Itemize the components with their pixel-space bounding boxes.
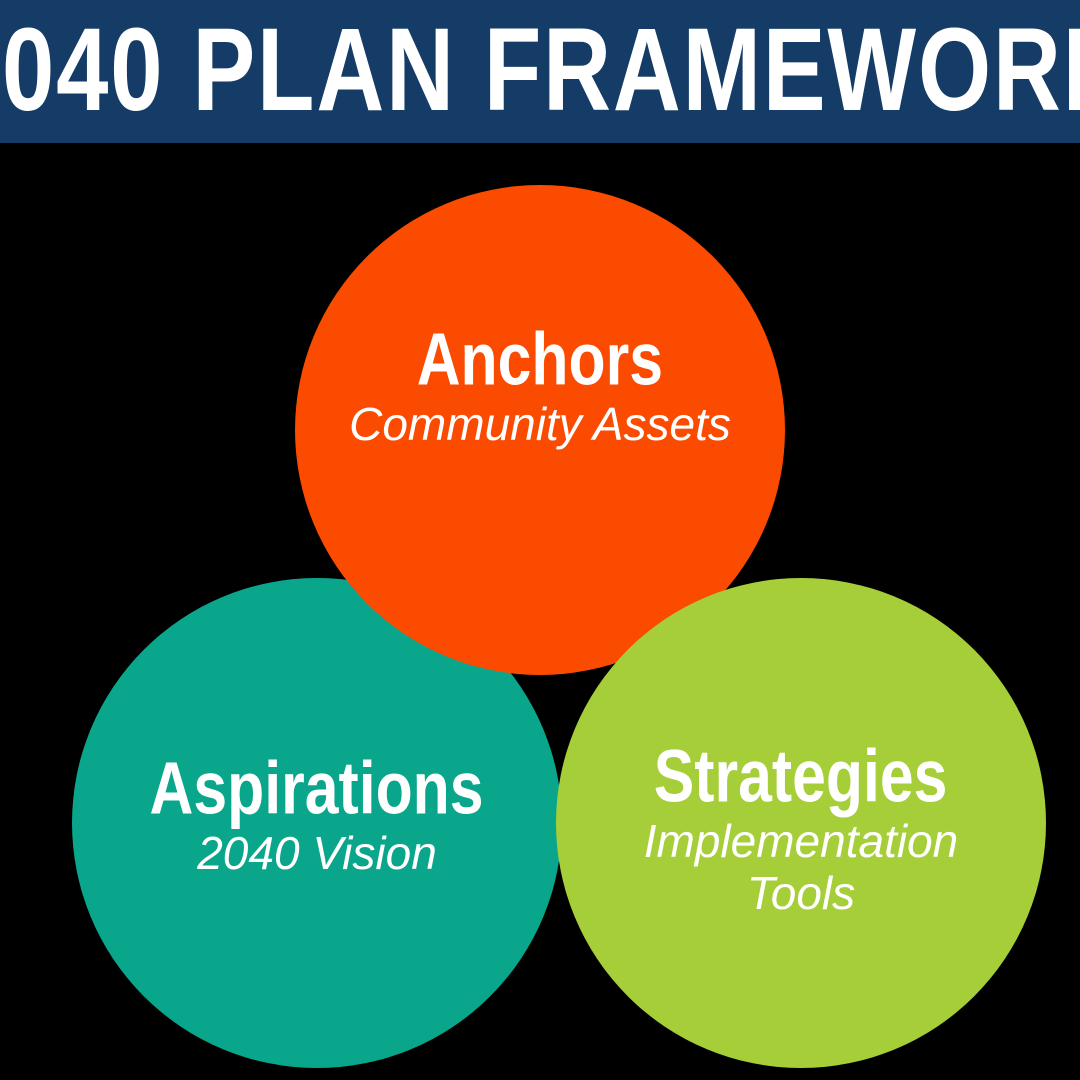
circle-strategies-content: Strategies Implementation Tools: [556, 743, 1046, 919]
circle-strategies-title: Strategies: [654, 739, 948, 814]
circle-anchors-content: Anchors Community Assets: [295, 326, 785, 451]
framework-diagram-canvas: 2040 PLAN FRAMEWORK Aspirations 2040 Vis…: [0, 0, 1080, 1080]
circle-anchors-subtitle: Community Assets: [327, 399, 753, 451]
circle-aspirations-title: Aspirations: [150, 751, 484, 826]
circle-strategies-subtitle: Implementation Tools: [584, 816, 1018, 919]
circle-anchors-title: Anchors: [417, 322, 663, 397]
circle-aspirations-subtitle: 2040 Vision: [175, 828, 459, 880]
header-banner: 2040 PLAN FRAMEWORK: [0, 0, 1080, 143]
circle-strategies: Strategies Implementation Tools: [556, 578, 1046, 1068]
page-title: 2040 PLAN FRAMEWORK: [0, 10, 1080, 133]
circle-aspirations-content: Aspirations 2040 Vision: [72, 755, 562, 880]
